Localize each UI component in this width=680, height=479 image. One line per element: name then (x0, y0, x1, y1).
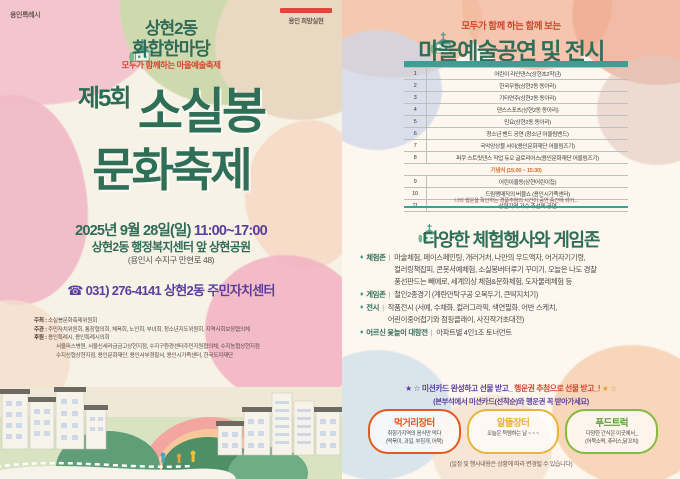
header-line-2: 화합한마당 (0, 35, 342, 61)
program-row-number: 6 (404, 128, 427, 140)
event-month-day: 9월 28일(일) (120, 223, 194, 239)
separator: | (431, 327, 433, 339)
program-bottom-rule (404, 206, 628, 208)
experience-item-line: 어린이중어접기와 점핑클래이, 사진작가초대전) (388, 314, 665, 326)
event-address: (용인시 수지구 만현로 48) (0, 254, 342, 266)
program-row-number: 4 (404, 104, 427, 116)
event-venue: 상현2동 행정복지센터 앞 상현공원 (0, 238, 342, 255)
program-row-name: 국악앙상블 서이(용인문화재단 어울림즈기) (427, 140, 629, 152)
footer-disclaimer: (일정 및 행사내용은 상황에 따라 변경될 수 있습니다) (342, 459, 680, 468)
title-ordinal: 제5회 (78, 78, 130, 113)
experience-item: ♦체험존|마술체험, 페이스페인팅, 개러거처, 나만의 우드액자, 어거자기기… (360, 252, 665, 288)
program-row-number: 5 (404, 116, 427, 128)
experience-item-label: 게임존 (366, 289, 385, 301)
experience-item-text: 아파트별 4인1조 토너먼트 (436, 327, 665, 339)
experience-section-title: 다양한 체험행사와 게임존 (342, 226, 680, 252)
experience-item: ♦게임존|철인2종경기 (계란만탁구공 오목두기, 큰딱지치기) (360, 289, 665, 301)
program-table-body: 1어린이 라인댄스(상현초2학년)2한국무용(상현2동 동아리)3기타연주(상현… (404, 61, 628, 212)
event-time: 11:00~17:00 (194, 223, 267, 239)
poster-left-panel: 용인특례시 용인 희망실현 상현2동 화합한마당 모두가 (0, 0, 342, 479)
program-row-name: 어린이 라인댄스(상현초2학년) (427, 68, 629, 80)
market-box-line: 다양한 간식은 이곳에서_ (569, 431, 654, 439)
market-box-description: 취향가지역의 음식만 먹다(떡볶이, 과일, 부침개, 어묵) (372, 431, 457, 447)
organizer-block: 주최 : 소실봉문화축제위원회 주관 : 주민자치위원회, 통장협의회, 체육회… (34, 317, 314, 360)
program-row-name: 퍼쿠 스트릿댄스 작업 듀오 글로리어스(용인문화재단 어울림즈기) (427, 152, 629, 164)
experience-item: ♦어르신 윷놀이 대항전|아파트별 4인1조 토너먼트 (360, 327, 665, 339)
market-box-description: 다양한 간식은 이곳에서_(어묵소떡, 츄러스,닭꼬치) (569, 431, 654, 447)
experience-item-label: 어르신 윷놀이 대항전 (366, 327, 427, 339)
program-row-number: 8 (404, 152, 427, 164)
program-row-number: 3 (404, 92, 427, 104)
experience-item-line: 풍선판드는 빼에로, 세계의상 체험&문화체험, 도자물레체험 등 (394, 276, 665, 288)
program-row-name: 청소년 밴드 공연 (청소년 어울림밴드) (427, 128, 629, 140)
market-box: 먹거리장터취향가지역의 음식만 먹다(떡볶이, 과일, 부침개, 어묵) (368, 409, 461, 454)
program-row: 9어린이율동(상현어린이집) (404, 176, 628, 188)
market-box-title: 먹거리장터 (372, 415, 457, 429)
title-main-line2: 문화축제 (0, 134, 342, 200)
experience-item-label: 체험존 (366, 252, 385, 264)
program-footer-note: 나의 행운을 확인하는 경품추첨의 시간이 공연 중간에 섞어... (404, 196, 628, 204)
separator: | (382, 302, 384, 314)
experience-item-line: 마술체험, 페이스페인팅, 개러거처, 나만의 우드액자, 어거자기기령, (394, 252, 665, 264)
program-ceremony-note: 기념식 (15:00 ~ 15:30) (404, 164, 628, 176)
market-box-title: 푸드트럭 (569, 415, 654, 429)
experience-item-line: 철인2종경기 (계란만탁구공 오목두기, 큰딱지치기) (394, 289, 665, 301)
event-year: 2025년 (75, 223, 120, 239)
program-row: 3기타연주(상현2동 동아리) (404, 92, 628, 104)
program-row: 4댄스스포츠(상현2동 동아리) (404, 104, 628, 116)
right-subtitle: 모두가 함께 하는 함께 보는 (342, 18, 680, 32)
program-row-name: 민요(상현2동 동아리) (427, 116, 629, 128)
market-box: 알뜰장터오늘은 득템하는 날 ~ ~ ~ (467, 409, 560, 454)
title-main-line1: 소실봉 (138, 89, 264, 136)
market-box: 푸드트럭다양한 간식은 이곳에서_(어묵소떡, 츄러스,닭꼬치) (565, 409, 658, 454)
experience-item-line: 아파트별 4인1조 토너먼트 (436, 327, 665, 339)
experience-item-label: 전시 (366, 302, 379, 314)
promo-line-1: ★ ☆ 미션카드 완성하고 선물 받고_ 행운권 추첨으로 선물 받고_! ★ … (342, 383, 680, 394)
experience-item-line: 컬러링책잡피, 콘봇서예체험, 소실봉버터루기 꾸미기, 오늘은 나도 경찰 (394, 264, 665, 276)
program-row: 8퍼쿠 스트릿댄스 작업 듀오 글로리어스(용인문화재단 어울림즈기) (404, 152, 628, 164)
experience-item-text: 철인2종경기 (계란만탁구공 오목두기, 큰딱지치기) (394, 289, 665, 301)
program-row-name: 한국무용(상현2동 동아리) (427, 80, 629, 92)
market-box-line: 취향가지역의 음식만 먹다 (372, 431, 457, 439)
experience-item: ♦전시|작품전시 (서예, 수채화, 컬러그라픽, 색연필화, 어반 스케치,어… (360, 302, 665, 326)
market-box-title: 알뜰장터 (471, 415, 556, 429)
program-row: 5민요(상현2동 동아리) (404, 116, 628, 128)
diamond-bullet-icon: ♦ (360, 252, 363, 263)
program-row-number: 1 (404, 68, 427, 80)
experience-list: ♦체험존|마술체험, 페이스페인팅, 개러거처, 나만의 우드액자, 어거자기기… (360, 252, 665, 340)
program-row-name: 어린이율동(상현어린이집) (427, 176, 629, 188)
separator: | (389, 289, 391, 301)
diamond-bullet-icon: ♦ (360, 327, 363, 338)
program-row: 7국악앙상블 서이(용인문화재단 어울림즈기) (404, 140, 628, 152)
program-row: 2한국무용(상현2동 동아리) (404, 80, 628, 92)
contact-phone: ☎ 031) 276-4141 상현2동 주민자치센터 (0, 280, 342, 299)
header-tagline: 모두가 함께하는 마을예술축제 (0, 59, 342, 71)
market-box-line: 오늘은 득템하는 날 ~ ~ ~ (471, 431, 556, 439)
experience-item-line: 작품전시 (서예, 수채화, 컬러그라픽, 색연필화, 어반 스케치, (388, 302, 665, 314)
organizer-mgmt-row: 주관 : 주민자치위원회, 통장협의회, 체육회, 노인회, 부녀회, 청소년지… (34, 326, 314, 335)
market-box-line: (어묵소떡, 츄러스,닭꼬치) (569, 439, 654, 447)
program-row-name: 댄스스포츠(상현2동 동아리) (427, 104, 629, 116)
poster-right-panel: 모두가 함께 하는 함께 보는 마을예술공연 및 전시 1어린이 라인댄스(상현… (342, 0, 680, 479)
program-row-number: 9 (404, 176, 427, 188)
market-box-description: 오늘은 득템하는 날 ~ ~ ~ (471, 431, 556, 439)
festival-poster: 용인특례시 용인 희망실현 상현2동 화합한마당 모두가 (0, 0, 680, 479)
diamond-bullet-icon: ♦ (360, 302, 363, 313)
organizer-sponsor-row-3: 수지신협상현지점, 용인문화재단, 용인서부경찰서, 용인시가족센터, 한국도자… (34, 352, 314, 361)
organizer-sponsor-row: 후원 : 용인특례시, 용인특례시의회 (34, 334, 314, 343)
logo-bar (280, 8, 332, 13)
experience-item-text: 마술체험, 페이스페인팅, 개러거처, 나만의 우드액자, 어거자기기령,컬러링… (394, 252, 665, 288)
organizer-host-row: 주최 : 소실봉문화축제위원회 (34, 317, 314, 326)
organizer-sponsor-row-2: 서울퍼스병원, 서울신세라금금고상현지점, 수지구환경센터주민지원협의체, 수지… (34, 343, 314, 352)
market-boxes: 먹거리장터취향가지역의 음식만 먹다(떡볶이, 과일, 부침개, 어묵)알뜰장터… (368, 409, 658, 454)
program-row-number: 2 (404, 80, 427, 92)
promo-line-2: (본부석에서 미션카드(선착순)와 행운권 꼭 받아가세요) (342, 396, 680, 407)
program-row-number: 7 (404, 140, 427, 152)
experience-item-text: 작품전시 (서예, 수채화, 컬러그라픽, 색연필화, 어반 스케치,어린이중어… (388, 302, 665, 326)
program-table: 1어린이 라인댄스(상현초2학년)2한국무용(상현2동 동아리)3기타연주(상현… (404, 61, 628, 212)
market-box-line: (떡볶이, 과일, 부침개, 어묵) (372, 439, 457, 447)
program-row: 6청소년 밴드 공연 (청소년 어울림밴드) (404, 128, 628, 140)
poster-title: 제5회 소실봉 문화축제 (0, 78, 342, 200)
separator: | (389, 252, 391, 264)
program-row: 1어린이 라인댄스(상현초2학년) (404, 68, 628, 80)
diamond-bullet-icon: ♦ (360, 289, 363, 300)
event-datetime: 2025년 9월 28일(일) 11:00~17:00 (0, 219, 342, 240)
program-row-name: 기타연주(상현2동 동아리) (427, 92, 629, 104)
